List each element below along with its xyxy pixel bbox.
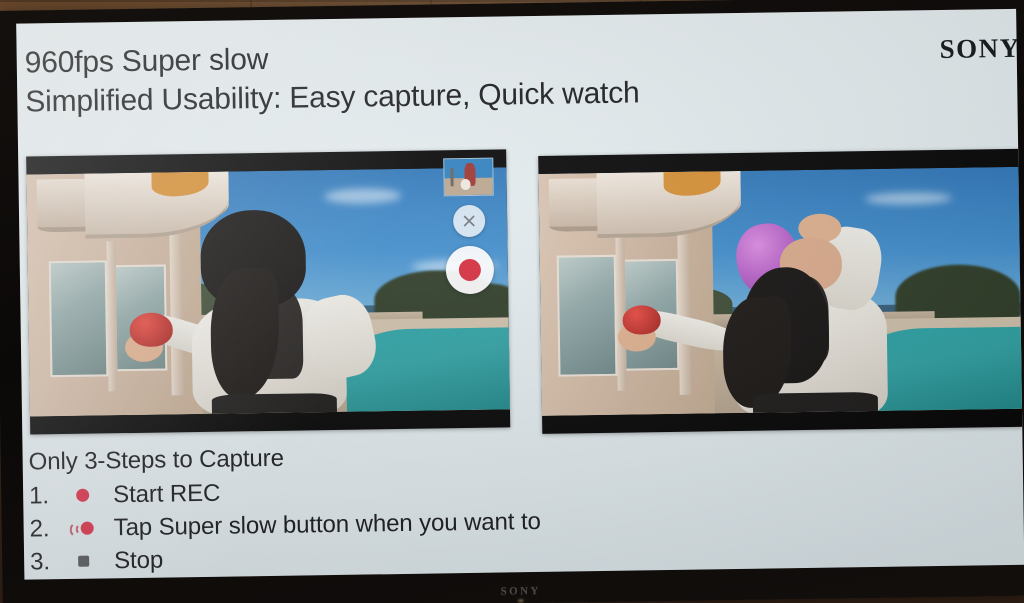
pillar (169, 225, 184, 395)
window (557, 255, 618, 377)
record-dot-glyph (76, 489, 89, 502)
record-dot-icon (459, 259, 481, 281)
bezel-sony-logo: SONY (500, 585, 540, 598)
page-title: 960fps Super slow Simplified Usability: … (24, 34, 639, 121)
stop-square-glyph (78, 556, 89, 567)
step-number: 3. (30, 546, 60, 578)
red-balloon (622, 305, 661, 335)
sony-brand-logo: SONY (939, 33, 1020, 65)
pillar (677, 220, 692, 394)
record-icon (59, 489, 105, 503)
close-icon (462, 214, 476, 228)
super-slow-icon (60, 520, 106, 537)
step-number: 1. (29, 480, 59, 512)
thumbnail-post (450, 169, 454, 186)
close-button[interactable] (453, 205, 485, 237)
record-button[interactable] (446, 246, 495, 295)
photo-content-right (538, 167, 1022, 416)
girl-skirt (212, 393, 337, 417)
red-balloon (129, 313, 173, 348)
presentation-slide: 960fps Super slow Simplified Usability: … (16, 9, 1024, 580)
stop-icon (60, 556, 106, 568)
girl-skirt (753, 392, 878, 416)
motion-arc-inner (76, 523, 87, 534)
super-slow-glyph (66, 520, 100, 537)
step-number: 2. (29, 513, 59, 545)
photographed-scene: 960fps Super slow Simplified Usability: … (0, 0, 1024, 603)
step-label: Tap Super slow button when you want to (105, 506, 541, 544)
capture-screen-with-ui (26, 149, 510, 434)
photo-content-left (26, 167, 510, 416)
tv-bezel: 960fps Super slow Simplified Usability: … (0, 0, 1024, 603)
capture-screen-clean (538, 149, 1022, 434)
camera-ui-overlay (440, 158, 498, 295)
pillar (107, 241, 118, 391)
step-label: Stop (106, 545, 163, 577)
window (48, 260, 108, 377)
steps-heading: Only 3-Steps to Capture (28, 440, 540, 477)
thumbnail-figure-secondary (461, 179, 471, 190)
step-label: Start REC (105, 478, 221, 511)
list-item: 3. Stop (30, 538, 542, 579)
power-led-icon (518, 599, 524, 602)
steps-block: Only 3-Steps to Capture 1. Start REC 2. (28, 440, 541, 579)
thumbnail-preview[interactable] (443, 158, 494, 197)
